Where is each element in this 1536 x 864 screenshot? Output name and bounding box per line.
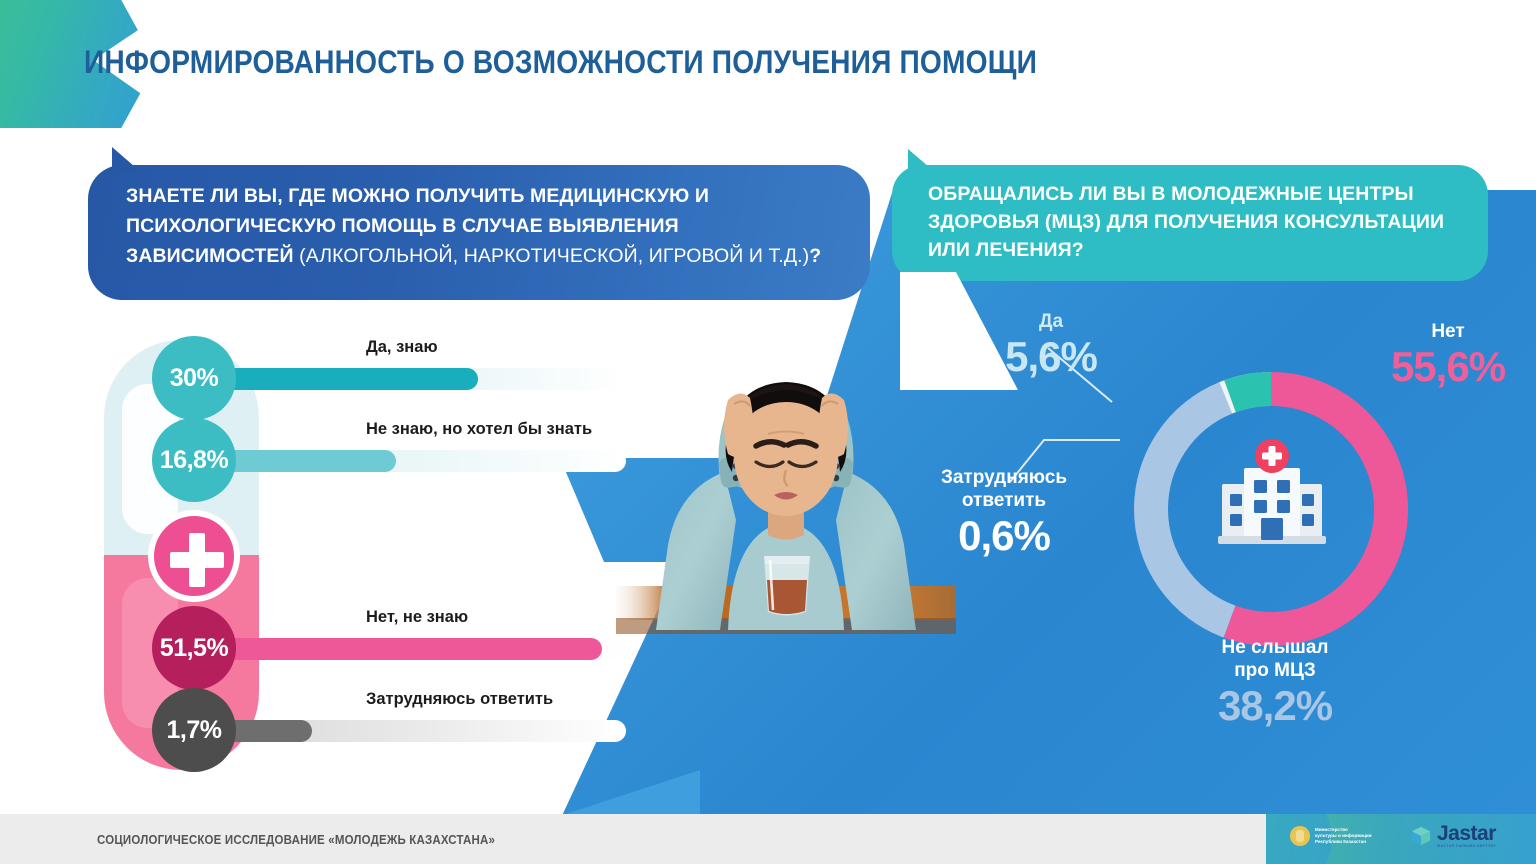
infographic-slide: ИНФОРМИРОВАННОСТЬ О ВОЗМОЖНОСТИ ПОЛУЧЕНИ…	[0, 0, 1536, 864]
question-bubble-right: ОБРАЩАЛИСЬ ЛИ ВЫ В МОЛОДЕЖНЫЕ ЦЕНТРЫ ЗДО…	[892, 165, 1488, 281]
jastar-brand-name: Jastar	[1437, 824, 1496, 844]
donut-label-neslyshal: Не слышал про МЦЗ 38,2%	[1180, 636, 1370, 730]
ministry-logo-text: Министерство культуры и информации Респу…	[1315, 827, 1372, 846]
footer-caption: СОЦИОЛОГИЧЕСКОЕ ИССЛЕДОВАНИЕ «МОЛОДЕЖЬ К…	[97, 833, 495, 847]
bar-value-bubble: 30%	[152, 336, 236, 420]
donut-label-zatr-line1: Затрудняюсь	[930, 466, 1078, 489]
kazakhstan-emblem-icon	[1290, 826, 1310, 846]
jastar-logo[interactable]: Jastar ЖАСТАР ҒЫЛЫМИ-ЗЕРТТЕУ	[1410, 824, 1496, 848]
bar-label: Нет, не знаю	[366, 608, 468, 627]
jastar-brand-sub: ЖАСТАР ҒЫЛЫМИ-ЗЕРТТЕУ	[1437, 844, 1496, 848]
donut-label-da-name: Да	[986, 310, 1116, 333]
hospital-icon	[1214, 440, 1330, 550]
donut-label-zatrudnyayus: Затрудняюсь ответить 0,6%	[930, 466, 1078, 560]
bar-value-bubble: 51,5%	[152, 606, 236, 690]
bar-fill	[196, 638, 602, 660]
bar-row: Не знаю, но хотел бы знать 16,8%	[0, 420, 640, 494]
cross-horizontal-bar	[170, 552, 224, 568]
donut-label-ne-value: 38,2%	[1180, 682, 1370, 730]
question-left-tail: ?	[809, 245, 821, 267]
question-left-light: (АЛКОГОЛЬНОЙ, НАРКОТИЧЕСКОЙ, ИГРОВОЙ И Т…	[294, 245, 810, 267]
donut-label-da: Да 5,6%	[986, 310, 1116, 381]
donut-label-net-value: 55,6%	[1378, 343, 1518, 391]
footer-logo-strip: Министерство культуры и информации Респу…	[1266, 814, 1536, 864]
bar-track	[196, 638, 626, 660]
donut-label-zatr-value: 0,6%	[930, 512, 1078, 560]
photo-illustration-svg	[616, 330, 956, 660]
bar-row: Затрудняюсь ответить 1,7%	[0, 690, 640, 764]
hospital-icon-svg	[1214, 440, 1330, 550]
question-bubble-left: ЗНАЕТЕ ЛИ ВЫ, ГДЕ МОЖНО ПОЛУЧИТЬ МЕДИЦИН…	[88, 165, 870, 300]
bar-label: Не знаю, но хотел бы знать	[366, 420, 592, 439]
bar-row: Да, знаю 30%	[0, 338, 640, 412]
medical-cross-icon	[148, 510, 240, 602]
donut-label-ne-line1: Не слышал	[1180, 636, 1370, 659]
bar-fill	[196, 368, 478, 390]
donut-label-ne-line2: про МЦЗ	[1180, 659, 1370, 682]
ministry-logo: Министерство культуры и информации Респу…	[1290, 826, 1372, 846]
bar-label: Затрудняюсь ответить	[366, 690, 553, 709]
jastar-cube-icon	[1410, 825, 1432, 847]
bar-track	[196, 450, 626, 472]
page-title: ИНФОРМИРОВАННОСТЬ О ВОЗМОЖНОСТИ ПОЛУЧЕНИ…	[84, 44, 1037, 81]
jastar-wordmark: Jastar ЖАСТАР ҒЫЛЫМИ-ЗЕРТТЕУ	[1437, 824, 1496, 848]
bar-row: Нет, не знаю 51,5%	[0, 608, 640, 682]
bar-track	[196, 368, 626, 390]
question-right-text: ОБРАЩАЛИСЬ ЛИ ВЫ В МОЛОДЕЖНЫЕ ЦЕНТРЫ ЗДО…	[928, 180, 1472, 264]
donut-label-net-name: Нет	[1378, 320, 1518, 343]
bar-value-bubble: 16,8%	[152, 418, 236, 502]
question-left-text: ЗНАЕТЕ ЛИ ВЫ, ГДЕ МОЖНО ПОЛУЧИТЬ МЕДИЦИН…	[126, 181, 850, 271]
bubble-tail-right	[908, 149, 936, 173]
photo-stressed-woman	[616, 330, 956, 660]
donut-label-da-value: 5,6%	[986, 333, 1116, 381]
donut-label-net: Нет 55,6%	[1378, 320, 1518, 391]
bar-value-bubble: 1,7%	[152, 688, 236, 772]
bar-label: Да, знаю	[366, 338, 438, 357]
bar-track	[196, 720, 626, 742]
donut-label-zatr-line2: ответить	[930, 489, 1078, 512]
bubble-tail-left	[112, 147, 142, 173]
